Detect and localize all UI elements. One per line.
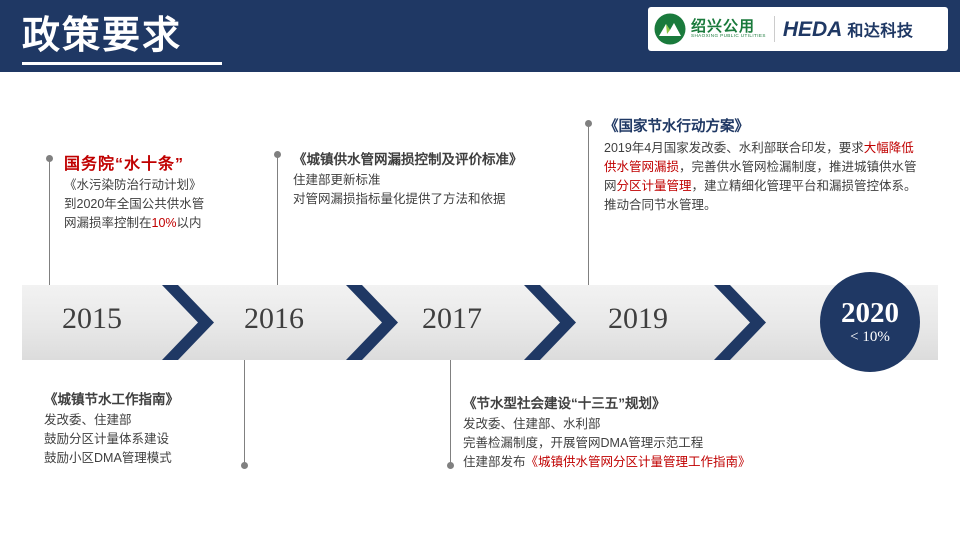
leader-2016-top — [277, 156, 278, 285]
timeline-chevron-3 — [524, 285, 576, 360]
note-2019-top: 《国家节水行动方案》 2019年4月国家发改委、水利部联合印发，要求大幅降低供水… — [604, 118, 922, 215]
leader-dot-2019-top — [585, 120, 592, 127]
leader-dot-2017-bottom — [447, 462, 454, 469]
note-2016-top-line-2: 对管网漏损指标量化提供了方法和依据 — [293, 192, 506, 206]
leader-2017-bottom — [450, 360, 451, 465]
note-2019-seg-1: 2019年4月国家发改委、水利部联合印发，要求 — [604, 141, 864, 155]
leader-2016-bottom — [244, 360, 245, 465]
note-2015-bottom-line-3: 鼓励小区DMA管理模式 — [44, 451, 172, 465]
note-2017-bottom-line-3-highlight: 《城镇供水管网分区计量管理工作指南》 — [526, 455, 751, 469]
logo-heda: HEDA 和达科技 — [783, 17, 914, 42]
target-badge: 2020 < 10% — [820, 272, 920, 372]
note-2017-bottom-title: 《节水型社会建设“十三五”规划》 — [463, 394, 863, 413]
timeline-year-2015: 2015 — [62, 302, 122, 336]
logo-divider — [774, 16, 775, 42]
note-2017-bottom-line-2: 完善检漏制度，开展管网DMA管理示范工程 — [463, 436, 703, 450]
leader-dot-2016-bottom — [241, 462, 248, 469]
note-2019-seg-4: 分区计量管理 — [617, 179, 692, 193]
target-year: 2020 — [841, 298, 899, 328]
timeline-year-2019: 2019 — [608, 302, 668, 336]
timeline-chevron-2 — [346, 285, 398, 360]
note-2015-bottom-title: 《城镇节水工作指南》 — [44, 390, 274, 409]
note-2015-top-line-3-a: 网漏损率控制在 — [64, 216, 152, 230]
timeline-chevron-4 — [714, 285, 766, 360]
note-2015-top-line-1: 《水污染防治行动计划》 — [64, 178, 202, 192]
logo: 绍兴公用 SHAOXING PUBLIC UTILITIES HEDA 和达科技 — [648, 7, 948, 51]
note-2015-top-line-3-b: 以内 — [177, 216, 202, 230]
slide: 政策要求 绍兴公用 SHAOXING PUBLIC UTILITIES HEDA… — [0, 0, 960, 540]
note-2016-top: 《城镇供水管网漏损控制及评价标准》 住建部更新标准 对管网漏损指标量化提供了方法… — [293, 150, 583, 209]
note-2017-bottom-line-1: 发改委、住建部、水利部 — [463, 417, 601, 431]
note-2016-top-line-1: 住建部更新标准 — [293, 173, 381, 187]
page-title: 政策要求 — [22, 10, 182, 62]
note-2016-top-title: 《城镇供水管网漏损控制及评价标准》 — [293, 150, 583, 169]
logo-brand-cn: 和达科技 — [847, 17, 913, 41]
logo-shaoxing: 绍兴公用 SHAOXING PUBLIC UTILITIES — [654, 13, 766, 45]
mountain-logo-icon — [654, 13, 686, 45]
logo-company-en: SHAOXING PUBLIC UTILITIES — [691, 34, 766, 39]
note-2015-top-title: 国务院“水十条” — [64, 155, 244, 174]
title-underline — [22, 62, 222, 65]
logo-company-cn: 绍兴公用 — [691, 19, 766, 35]
leader-2019-top — [588, 125, 589, 285]
note-2019-top-title: 《国家节水行动方案》 — [604, 118, 922, 137]
timeline-year-2016: 2016 — [244, 302, 304, 336]
note-2015-top: 国务院“水十条” 《水污染防治行动计划》 到2020年全国公共供水管 网漏损率控… — [64, 155, 244, 233]
target-value: < 10% — [850, 328, 890, 346]
leader-dot-2016-top — [274, 151, 281, 158]
note-2015-bottom: 《城镇节水工作指南》 发改委、住建部 鼓励分区计量体系建设 鼓励小区DMA管理模… — [44, 390, 274, 468]
note-2017-bottom: 《节水型社会建设“十三五”规划》 发改委、住建部、水利部 完善检漏制度，开展管网… — [463, 394, 863, 472]
note-2015-bottom-line-2: 鼓励分区计量体系建设 — [44, 432, 169, 446]
note-2015-top-line-2: 到2020年全国公共供水管 — [64, 197, 204, 211]
timeline-year-2017: 2017 — [422, 302, 482, 336]
note-2017-bottom-line-3-prefix: 住建部发布 — [463, 455, 526, 469]
note-2015-bottom-line-1: 发改委、住建部 — [44, 413, 132, 427]
logo-brand-en: HEDA — [783, 18, 843, 42]
leader-2015-top — [49, 160, 50, 285]
timeline-chevron-1 — [162, 285, 214, 360]
note-2015-top-highlight: 10% — [152, 216, 177, 230]
timeline: 2015 2016 2017 2019 — [22, 285, 938, 360]
leader-dot-2015-top — [46, 155, 53, 162]
